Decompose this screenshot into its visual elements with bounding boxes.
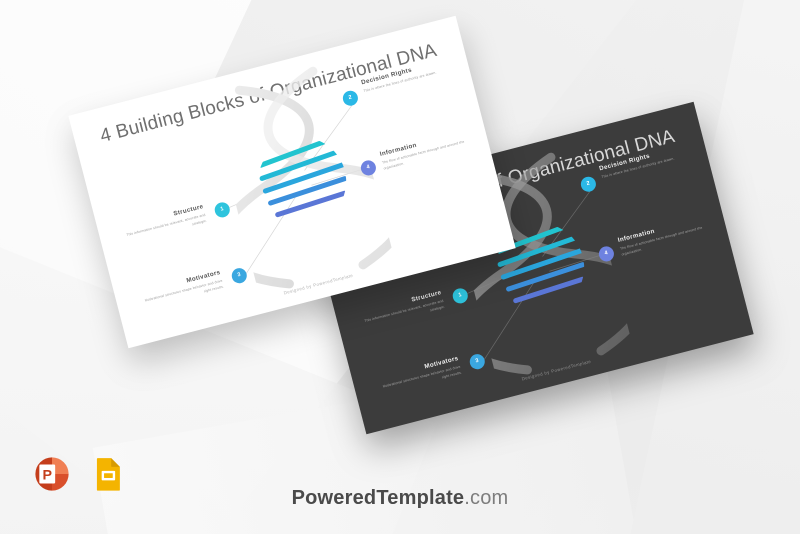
node-motivators-light[interactable]: Motivators Motivational structures shape… — [136, 269, 225, 312]
node-information-light[interactable]: Information The flow of actionable facts… — [379, 130, 468, 173]
bullet-number: 3 — [475, 359, 479, 365]
bullet-number: 3 — [237, 273, 241, 279]
node-structure-light[interactable]: Structure This information should be rel… — [119, 203, 208, 246]
bullet-number: 4 — [604, 251, 608, 257]
svg-text:P: P — [42, 468, 52, 484]
bullet-number: 1 — [458, 293, 462, 299]
bullet-number: 1 — [220, 207, 224, 213]
brand-tld: .com — [464, 487, 508, 509]
node-bullet-structure-light[interactable]: 1 — [213, 201, 231, 219]
bullet-number: 2 — [348, 95, 352, 101]
node-bullet-motivators-light[interactable]: 3 — [230, 267, 248, 285]
node-structure-dark[interactable]: Structure This information should be rel… — [357, 289, 446, 332]
node-bullet-structure-dark[interactable]: 1 — [451, 287, 469, 305]
node-information-dark[interactable]: Information The flow of actionable facts… — [617, 216, 706, 259]
bullet-number: 4 — [366, 165, 370, 171]
site-brand: PoweredTemplate.com — [0, 487, 800, 510]
brand-name: PoweredTemplate — [292, 487, 465, 509]
canvas-background: 4 Building Blocks of Organizational DNA — [0, 0, 800, 534]
node-bullet-motivators-dark[interactable]: 3 — [468, 353, 486, 371]
node-motivators-dark[interactable]: Motivators Motivational structures shape… — [374, 355, 463, 398]
bullet-number: 2 — [586, 181, 590, 187]
